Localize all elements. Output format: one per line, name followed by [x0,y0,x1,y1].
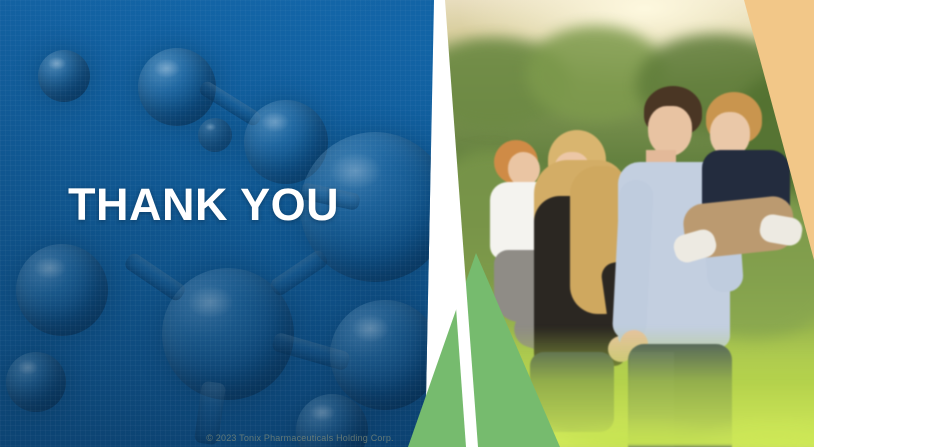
page-title: THANK YOU [68,182,339,227]
face [648,106,692,156]
thank-you-slide: THANK YOU [0,0,950,447]
white-margin [814,0,950,447]
face [508,152,540,186]
copyright-notice: © 2023 Tonix Pharmaceuticals Holding Cor… [0,433,600,443]
